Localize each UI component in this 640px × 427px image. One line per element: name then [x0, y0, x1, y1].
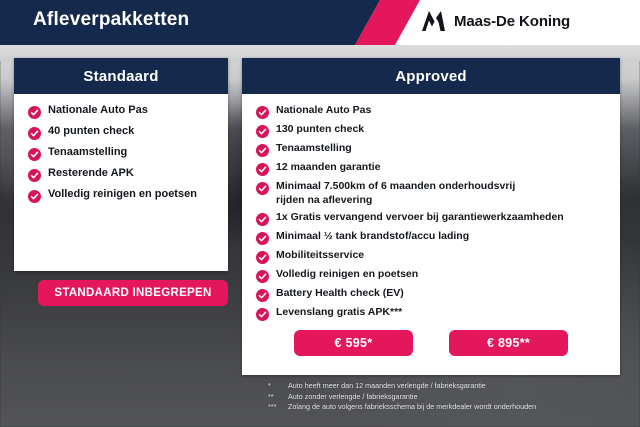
- feature-label: Tenaamstelling: [276, 142, 352, 156]
- feature-label: Minimaal 7.500km of 6 maanden onderhouds…: [276, 180, 515, 207]
- feature-label: 40 punten check: [48, 125, 134, 139]
- feature-label: 1x Gratis vervangend vervoer bij garanti…: [276, 211, 564, 225]
- check-circle-icon: [256, 125, 269, 138]
- feature-label: Resterende APK: [48, 167, 134, 181]
- feature-label: Volledig reinigen en poetsen: [276, 268, 418, 282]
- check-circle-icon: [256, 289, 269, 302]
- price-button-895[interactable]: € 895**: [449, 330, 568, 356]
- check-circle-icon: [28, 148, 41, 161]
- standaard-inbegrepen-button[interactable]: STANDAARD INBEGREPEN: [38, 280, 228, 306]
- feature-label: 12 maanden garantie: [276, 161, 380, 175]
- price-button-row: € 595* € 895**: [242, 330, 620, 356]
- package-card-approved: Approved Nationale Auto Pas 130 punten c…: [242, 58, 620, 375]
- package-card-standaard: Standaard Nationale Auto Pas 40 punten c…: [14, 58, 228, 271]
- page-title: Afleverpakketten: [33, 9, 189, 31]
- footnote-marker: ***: [268, 402, 288, 413]
- list-item: Tenaamstelling: [242, 142, 620, 157]
- card-body-standaard: Nationale Auto Pas 40 punten check Tenaa…: [14, 94, 228, 203]
- list-item: Minimaal ½ tank brandstof/accu lading: [242, 230, 620, 245]
- feature-label: 130 punten check: [276, 123, 364, 137]
- maas-de-koning-m-logo-icon: [421, 10, 446, 32]
- feature-label-line1: Minimaal 7.500km of 6 maanden onderhouds…: [276, 180, 515, 192]
- feature-list-standaard: Nationale Auto Pas 40 punten check Tenaa…: [14, 104, 228, 203]
- feature-label: Mobiliteitsservice: [276, 249, 364, 263]
- feature-label-line2: rijden na aflevering: [276, 194, 515, 208]
- check-circle-icon: [256, 144, 269, 157]
- check-circle-icon: [28, 127, 41, 140]
- check-circle-icon: [28, 169, 41, 182]
- card-title-approved: Approved: [242, 58, 620, 94]
- brand-name: Maas-De Koning: [454, 13, 570, 30]
- check-circle-icon: [256, 106, 269, 119]
- check-circle-icon: [28, 190, 41, 203]
- check-circle-icon: [256, 163, 269, 176]
- footnote-marker: **: [268, 392, 288, 403]
- footnote-3: *** Zolang de auto volgens fabrieksschem…: [268, 402, 640, 413]
- feature-label: Nationale Auto Pas: [276, 104, 371, 118]
- list-item: Nationale Auto Pas: [242, 104, 620, 119]
- list-item: Tenaamstelling: [14, 146, 228, 161]
- price-button-595[interactable]: € 595*: [294, 330, 413, 356]
- feature-label: Levenslang gratis APK***: [276, 306, 402, 320]
- list-item: Mobiliteitsservice: [242, 249, 620, 264]
- card-title-standaard: Standaard: [14, 58, 228, 94]
- feature-list-approved: Nationale Auto Pas 130 punten check Tena…: [242, 104, 620, 321]
- check-circle-icon: [256, 232, 269, 245]
- list-item: Levenslang gratis APK***: [242, 306, 620, 321]
- list-item: 1x Gratis vervangend vervoer bij garanti…: [242, 211, 620, 226]
- check-circle-icon: [28, 106, 41, 119]
- feature-label: Volledig reinigen en poetsen: [48, 188, 197, 202]
- list-item: Minimaal 7.500km of 6 maanden onderhouds…: [242, 180, 620, 207]
- list-item: Volledig reinigen en poetsen: [242, 268, 620, 283]
- card-body-approved: Nationale Auto Pas 130 punten check Tena…: [242, 94, 620, 321]
- list-item: 130 punten check: [242, 123, 620, 138]
- footnote-2: ** Auto zonder verlengde / fabrieksgaran…: [268, 392, 640, 403]
- list-item: 12 maanden garantie: [242, 161, 620, 176]
- brand-logo: Maas-De Koning: [421, 10, 570, 32]
- check-circle-icon: [256, 270, 269, 283]
- footnote-text: Auto heeft meer dan 12 maanden verlengde…: [288, 381, 486, 392]
- footnote-1: * Auto heeft meer dan 12 maanden verleng…: [268, 381, 640, 392]
- check-circle-icon: [256, 182, 269, 195]
- feature-label: Minimaal ½ tank brandstof/accu lading: [276, 230, 469, 244]
- footnote-marker: *: [268, 381, 288, 392]
- check-circle-icon: [256, 251, 269, 264]
- footnote-text: Zolang de auto volgens fabrieksschema bi…: [288, 402, 536, 413]
- feature-label: Nationale Auto Pas: [48, 104, 148, 118]
- list-item: Resterende APK: [14, 167, 228, 182]
- afleverpakketten-page: Afleverpakketten Maas-De Koning Standaar…: [0, 0, 640, 427]
- list-item: 40 punten check: [14, 125, 228, 140]
- check-circle-icon: [256, 308, 269, 321]
- feature-label: Tenaamstelling: [48, 146, 127, 160]
- feature-label: Battery Health check (EV): [276, 287, 404, 301]
- list-item: Battery Health check (EV): [242, 287, 620, 302]
- list-item: Nationale Auto Pas: [14, 104, 228, 119]
- page-header: Afleverpakketten Maas-De Koning: [0, 0, 640, 45]
- list-item: Volledig reinigen en poetsen: [14, 188, 228, 203]
- footnote-text: Auto zonder verlengde / fabrieksgarantie: [288, 392, 417, 403]
- check-circle-icon: [256, 213, 269, 226]
- footnotes: * Auto heeft meer dan 12 maanden verleng…: [268, 381, 640, 413]
